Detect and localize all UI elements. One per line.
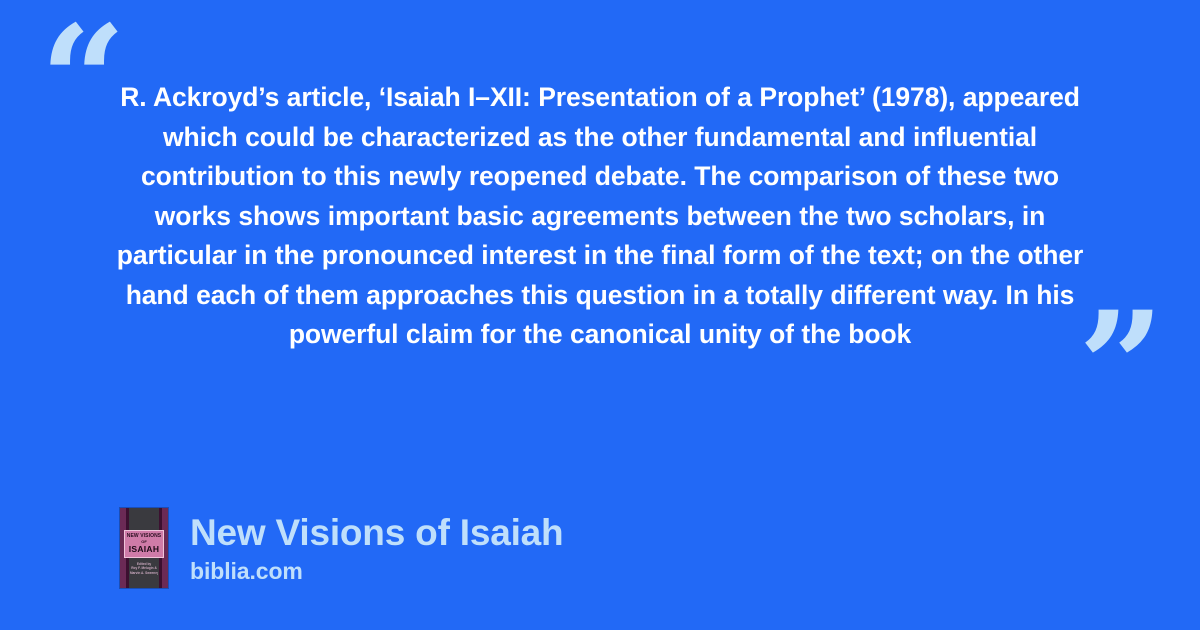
cover-editor-line-3: Marvin A. Sweeney [130,571,158,575]
site-name[interactable]: biblia.com [190,558,563,585]
book-cover-thumbnail[interactable]: NEW VISIONS OF ISAIAH Edited by Roy F. M… [120,508,168,588]
footer-text-group: New Visions of Isaiah biblia.com [190,511,563,585]
cover-editor-line-2: Roy F. Melugin & [130,566,158,570]
cover-editors: Edited by Roy F. Melugin & Marvin A. Swe… [130,562,158,575]
cover-title-line-3: ISAIAH [126,544,162,554]
footer-attribution[interactable]: NEW VISIONS OF ISAIAH Edited by Roy F. M… [120,508,563,588]
quote-block: R. Ackroyd’s article, ‘Isaiah I–XII: Pre… [100,78,1100,355]
book-title[interactable]: New Visions of Isaiah [190,511,563,555]
quote-text: R. Ackroyd’s article, ‘Isaiah I–XII: Pre… [100,78,1100,355]
cover-title-label: NEW VISIONS OF ISAIAH [124,530,164,558]
quote-card: “ R. Ackroyd’s article, ‘Isaiah I–XII: P… [0,0,1200,630]
closing-quote-icon: ” [1078,292,1164,442]
